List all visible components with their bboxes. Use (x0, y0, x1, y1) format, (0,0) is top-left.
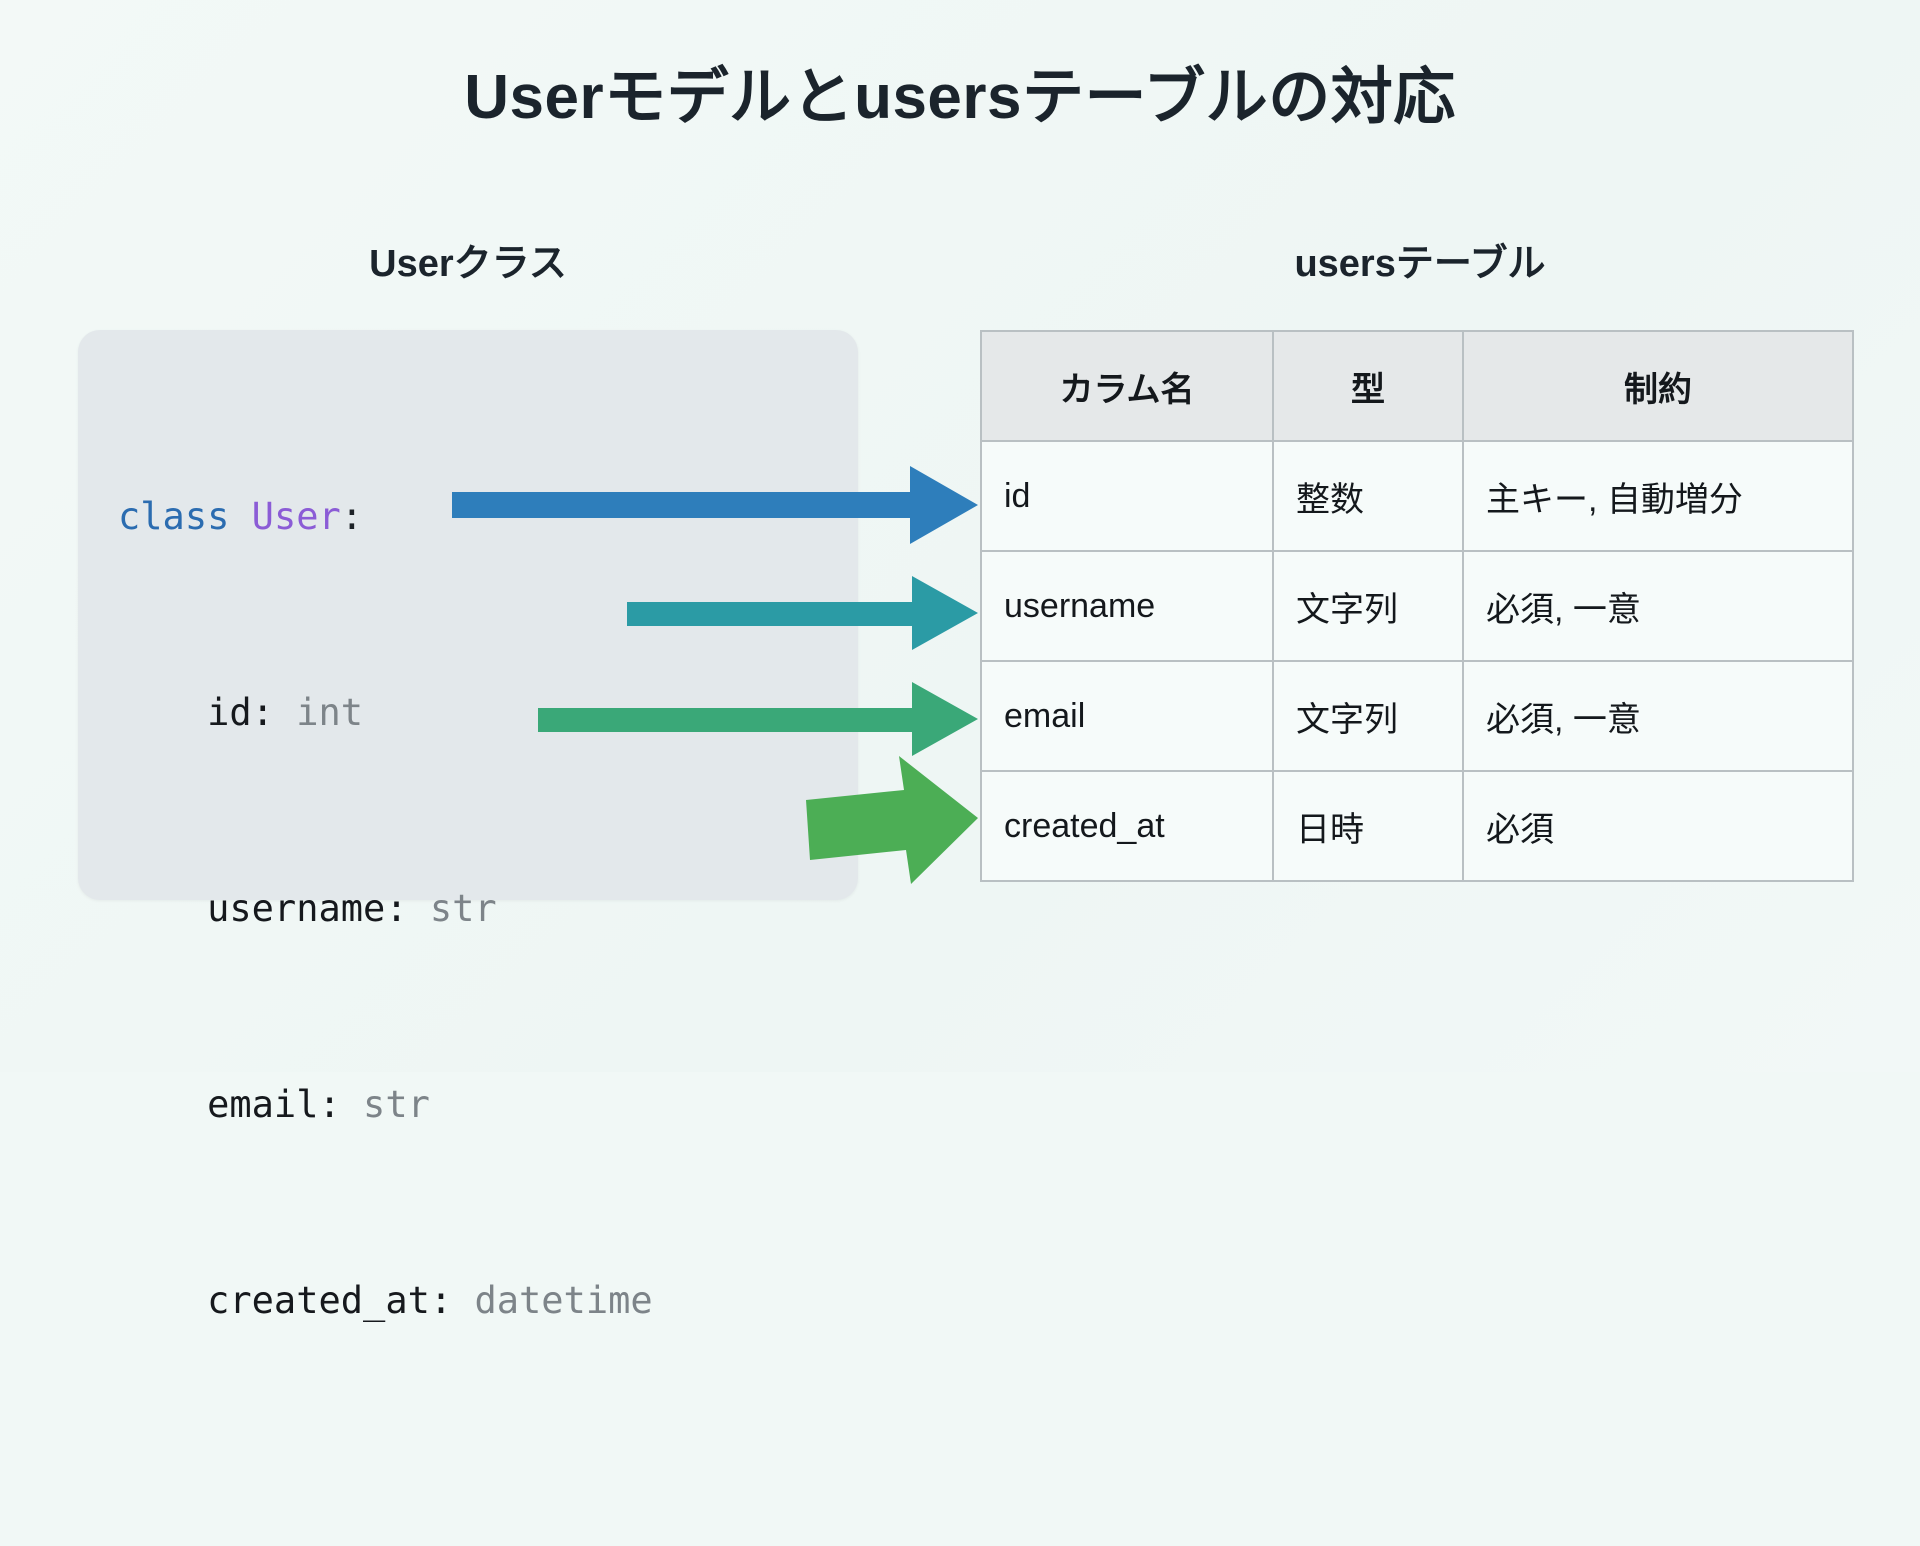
cell-column-type: 文字列 (1273, 661, 1463, 771)
code-field-name: username: (207, 887, 407, 930)
page-title: Userモデルとusersテーブルの対応 (0, 46, 1920, 136)
code-field-type: datetime (474, 1279, 652, 1322)
table-header-column-name: カラム名 (981, 331, 1273, 441)
cell-column-name: created_at (981, 771, 1273, 881)
slide-canvas: Userモデルとusersテーブルの対応 Userクラス usersテーブル c… (0, 0, 1920, 1072)
cell-column-constraint: 主キー, 自動増分 (1463, 441, 1853, 551)
code-field-name: created_at: (207, 1279, 452, 1322)
cell-column-constraint: 必須, 一意 (1463, 551, 1853, 661)
code-block: class User: id: int username: str email:… (118, 370, 653, 1546)
table-header-row: カラム名 型 制約 (981, 331, 1853, 441)
cell-column-type: 整数 (1273, 441, 1463, 551)
cell-column-constraint: 必須 (1463, 771, 1853, 881)
cell-column-type: 日時 (1273, 771, 1463, 881)
code-line-field: created_at: datetime (118, 1252, 653, 1350)
table-row: id 整数 主キー, 自動増分 (981, 441, 1853, 551)
table-row: username 文字列 必須, 一意 (981, 551, 1853, 661)
cell-column-type: 文字列 (1273, 551, 1463, 661)
cell-column-name: id (981, 441, 1273, 551)
code-line-class: class User: (118, 468, 653, 566)
table-row: email 文字列 必須, 一意 (981, 661, 1853, 771)
table-row: created_at 日時 必須 (981, 771, 1853, 881)
code-line-field: id: int (118, 664, 653, 762)
code-line-field: username: str (118, 860, 653, 958)
code-field-type: int (296, 691, 363, 734)
code-keyword-class: class (118, 495, 229, 538)
cell-column-name: email (981, 661, 1273, 771)
cell-column-constraint: 必須, 一意 (1463, 661, 1853, 771)
code-classname: User (252, 495, 341, 538)
table-header-column-constraint: 制約 (1463, 331, 1853, 441)
right-section-heading: usersテーブル (980, 232, 1860, 287)
table-header-column-type: 型 (1273, 331, 1463, 441)
code-space (229, 495, 251, 538)
cell-column-name: username (981, 551, 1273, 661)
code-field-name: email: (207, 1083, 341, 1126)
code-field-type: str (363, 1083, 430, 1126)
code-colon: : (341, 495, 363, 538)
users-table: カラム名 型 制約 id 整数 主キー, 自動増分 username 文字列 必… (980, 330, 1854, 882)
code-field-type: str (430, 887, 497, 930)
code-field-name: id: (207, 691, 274, 734)
left-section-heading: Userクラス (78, 232, 858, 287)
user-class-code-panel: class User: id: int username: str email:… (78, 330, 858, 900)
code-line-field: email: str (118, 1056, 653, 1154)
